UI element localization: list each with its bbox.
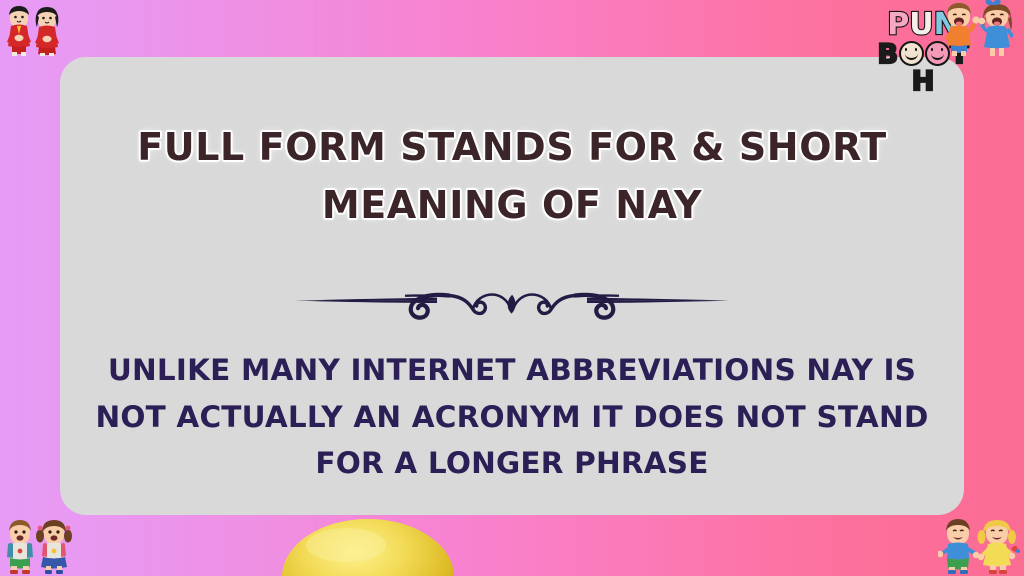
body-text: UNLIKE MANY INTERNET ABBREVIATIONS NAY I… xyxy=(60,347,964,487)
smiley-face-cream-icon xyxy=(899,41,924,66)
content-card: FULL FORM STANDS FOR & SHORT MEANING OF … xyxy=(60,57,964,515)
corner-art-bottom-right xyxy=(938,516,1020,574)
logo-letter-h: H xyxy=(912,68,935,95)
logo-letter-u: U xyxy=(909,10,933,40)
corner-art-top-right xyxy=(940,0,1020,56)
poster-canvas: FULL FORM STANDS FOR & SHORT MEANING OF … xyxy=(0,0,1024,576)
corner-art-top-left xyxy=(2,0,64,56)
page-title: FULL FORM STANDS FOR & SHORT MEANING OF … xyxy=(60,119,964,235)
corner-art-bottom-left xyxy=(2,516,78,574)
ornamental-flourish-divider xyxy=(277,272,747,328)
logo-letter-p: P xyxy=(887,10,909,40)
gold-torus-shape xyxy=(268,505,468,576)
logo-letter-b: B xyxy=(877,41,898,68)
